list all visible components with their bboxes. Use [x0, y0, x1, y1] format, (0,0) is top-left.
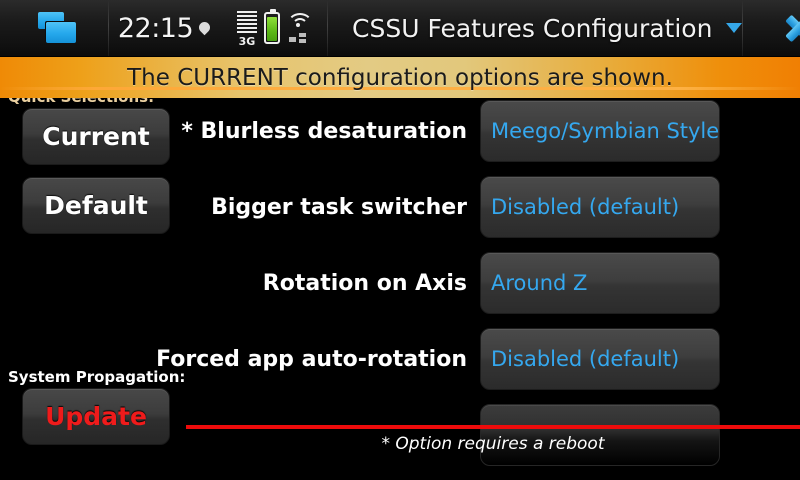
- battery-fill: [267, 17, 277, 41]
- option-value-selector[interactable]: Meego/Symbian Style: [480, 100, 720, 162]
- option-value-text: Disabled (default): [491, 195, 679, 219]
- battery-icon: [264, 12, 280, 44]
- current-button[interactable]: Current: [22, 108, 170, 165]
- main-content: Option Value Quick Selections: Current D…: [0, 56, 800, 480]
- task-switcher-button[interactable]: [0, 0, 108, 56]
- option-value-selector[interactable]: Disabled (default): [480, 328, 720, 390]
- status-clock-area[interactable]: 22:15: [109, 0, 219, 56]
- title-bar: 22:15 3G: [0, 0, 800, 56]
- option-value-text: Meego/Symbian Style: [491, 119, 719, 143]
- option-label: * Blurless desaturation: [190, 100, 467, 162]
- option-value-text: Around Z: [491, 271, 587, 295]
- update-button-label: Update: [45, 402, 147, 431]
- wifi-icon: [287, 11, 309, 45]
- task-switcher-icon-front: [46, 22, 76, 43]
- network-type-label: 3G: [237, 36, 257, 47]
- option-row: Rotation on Axis Around Z: [190, 252, 790, 314]
- option-value-selector[interactable]: Around Z: [480, 252, 720, 314]
- default-button[interactable]: Default: [22, 177, 170, 234]
- option-value-selector[interactable]: Disabled (default): [480, 176, 720, 238]
- default-button-label: Default: [44, 191, 148, 220]
- app-title-menu[interactable]: CSSU Features Configuration: [328, 0, 742, 56]
- signal-bars-glyph: [237, 11, 257, 33]
- page-title: CSSU Features Configuration: [352, 14, 712, 43]
- current-button-label: Current: [42, 122, 150, 151]
- status-indicators-area[interactable]: 3G: [219, 0, 327, 56]
- notification-banner-text: The CURRENT configuration options are sh…: [0, 57, 800, 98]
- notification-banner[interactable]: The CURRENT configuration options are sh…: [0, 57, 800, 98]
- footnote-text: * Option requires a reboot: [186, 434, 800, 454]
- option-label: Forced app auto-rotation: [190, 328, 467, 390]
- option-value-text: Disabled (default): [491, 347, 679, 371]
- close-icon: [782, 11, 800, 45]
- option-label: Rotation on Axis: [190, 252, 467, 314]
- bluetooth-icon: [197, 19, 213, 35]
- option-label: Bigger task switcher: [190, 176, 467, 238]
- red-separator: [186, 425, 800, 429]
- close-button[interactable]: [743, 0, 800, 56]
- option-row: * Blurless desaturation Meego/Symbian St…: [190, 100, 790, 162]
- update-button[interactable]: Update: [22, 388, 170, 445]
- option-row: Forced app auto-rotation Disabled (defau…: [190, 328, 790, 390]
- option-row: Bigger task switcher Disabled (default): [190, 176, 790, 238]
- clock-text: 22:15: [118, 13, 193, 44]
- signal-bars-icon: 3G: [237, 9, 257, 47]
- chevron-down-icon[interactable]: [726, 23, 742, 33]
- device-screen: 22:15 3G: [0, 0, 800, 480]
